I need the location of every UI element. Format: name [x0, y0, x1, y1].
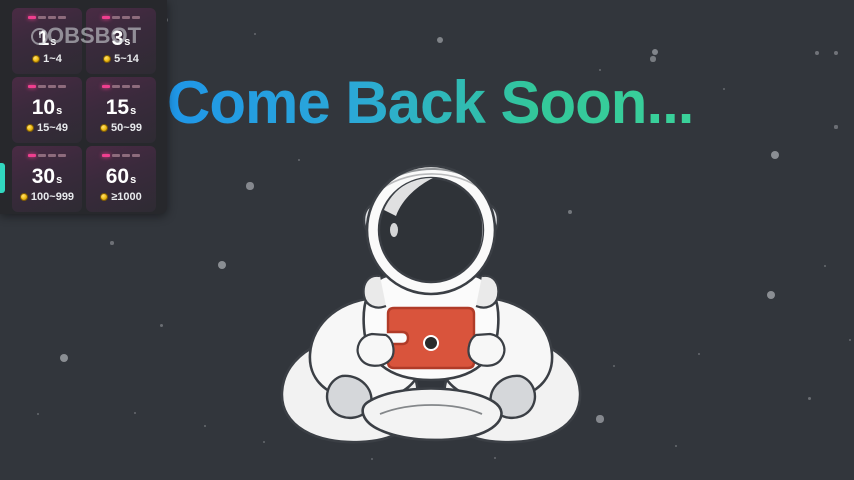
star-dot	[596, 415, 603, 422]
reward-tier-card-grid: 1s1~43s5~1410s15~4915s50~9930s100~99960s…	[12, 8, 156, 212]
star-dot	[160, 324, 163, 327]
tier-gauge-segment	[58, 16, 66, 19]
star-dot	[246, 182, 253, 189]
tier-duration-value: 3s	[86, 27, 156, 54]
tier-gauge-segment	[112, 16, 120, 19]
coin-icon	[26, 124, 34, 132]
tier-duration-unit: s	[130, 174, 136, 186]
star-dot	[824, 265, 827, 268]
tier-coin-range-label: 15~49	[37, 122, 68, 134]
tablet-camera-icon	[424, 336, 438, 350]
tier-gauge-segment	[58, 154, 66, 157]
star-dot	[650, 56, 655, 61]
tier-duration-value: 10s	[12, 96, 82, 123]
astronaut-left-hand	[358, 334, 394, 366]
star-dot	[134, 412, 136, 414]
tier-coin-range: 15~49	[12, 122, 82, 134]
reward-tier-card[interactable]: 1s1~4	[12, 8, 82, 74]
star-dot	[723, 88, 725, 90]
tier-duration-unit: s	[56, 174, 62, 186]
tier-gauge	[102, 154, 140, 157]
tier-coin-range: 1~4	[12, 53, 82, 65]
tier-gauge-segment	[112, 154, 120, 157]
astronaut-right-hand	[469, 334, 505, 366]
reward-tier-card[interactable]: 30s100~999	[12, 146, 82, 212]
star-dot	[110, 241, 114, 245]
tier-gauge-segment	[132, 85, 140, 88]
astronaut-illustration	[276, 158, 586, 448]
tier-gauge-segment	[28, 85, 36, 88]
tier-duration-value: 1s	[12, 27, 82, 54]
coin-icon	[20, 193, 28, 201]
tier-gauge-segment	[48, 85, 56, 88]
tier-duration-value: 60s	[86, 165, 156, 192]
tier-gauge-segment	[28, 16, 36, 19]
star-dot	[675, 445, 678, 448]
star-dot	[437, 37, 443, 43]
star-dot	[698, 353, 700, 355]
tier-gauge-segment	[132, 154, 140, 157]
page-title: Come Back Soon...	[167, 72, 693, 134]
tier-gauge-segment	[122, 16, 130, 19]
tier-gauge-segment	[38, 16, 46, 19]
star-dot	[771, 151, 779, 159]
tier-gauge	[102, 16, 140, 19]
coin-icon	[100, 124, 108, 132]
tier-gauge-segment	[48, 16, 56, 19]
tier-duration-value: 15s	[86, 96, 156, 123]
coin-icon	[100, 193, 108, 201]
tier-gauge	[28, 16, 66, 19]
tier-gauge-segment	[102, 154, 110, 157]
tier-gauge	[28, 154, 66, 157]
star-dot	[652, 49, 659, 56]
tier-duration-unit: s	[130, 105, 136, 117]
star-dot	[767, 291, 776, 300]
star-dot	[808, 397, 811, 400]
tier-duration-unit: s	[124, 36, 130, 48]
star-dot	[494, 457, 496, 459]
coin-icon	[103, 55, 111, 63]
tier-gauge-segment	[38, 154, 46, 157]
tier-gauge	[28, 85, 66, 88]
tier-coin-range: ≥1000	[86, 191, 156, 203]
tier-gauge-segment	[132, 16, 140, 19]
star-dot	[613, 365, 615, 367]
star-dot	[849, 339, 852, 342]
tier-duration-number: 30	[32, 165, 55, 188]
tier-gauge-segment	[122, 154, 130, 157]
tier-coin-range: 100~999	[12, 191, 82, 203]
tier-gauge-segment	[58, 85, 66, 88]
star-dot	[254, 33, 256, 35]
star-dot	[371, 458, 373, 460]
tier-duration-number: 15	[106, 96, 129, 119]
tier-gauge-segment	[102, 16, 110, 19]
tier-coin-range-label: 50~99	[111, 122, 142, 134]
tier-gauge-segment	[28, 154, 36, 157]
tier-duration-number: 60	[106, 165, 129, 188]
screen: Come Back Soon...	[0, 0, 854, 480]
tier-gauge-segment	[122, 85, 130, 88]
tier-coin-range-label: 100~999	[31, 191, 74, 203]
tier-duration-number: 3	[112, 27, 124, 50]
tier-duration-value: 30s	[12, 165, 82, 192]
tier-gauge	[102, 85, 140, 88]
tier-coin-range-label: 1~4	[43, 53, 62, 65]
tier-gauge-segment	[112, 85, 120, 88]
tier-duration-unit: s	[56, 105, 62, 117]
star-dot	[263, 441, 265, 443]
reward-tier-card[interactable]: 15s50~99	[86, 77, 156, 143]
tier-coin-range-label: 5~14	[114, 53, 139, 65]
star-dot	[204, 425, 207, 428]
tier-coin-range-label: ≥1000	[111, 191, 142, 203]
tier-gauge-segment	[48, 154, 56, 157]
coin-icon	[32, 55, 40, 63]
reward-tier-card[interactable]: 3s5~14	[86, 8, 156, 74]
reward-tier-card[interactable]: 60s≥1000	[86, 146, 156, 212]
teal-edge-accent	[0, 163, 5, 193]
tier-gauge-segment	[102, 85, 110, 88]
star-dot	[834, 51, 838, 55]
star-dot	[834, 125, 837, 128]
tier-duration-number: 1	[38, 27, 50, 50]
tier-gauge-segment	[38, 85, 46, 88]
tier-duration-number: 10	[32, 96, 55, 119]
star-dot	[218, 261, 227, 270]
star-dot	[37, 413, 39, 415]
star-dot	[60, 354, 68, 362]
tier-duration-unit: s	[50, 36, 56, 48]
tier-coin-range: 50~99	[86, 122, 156, 134]
reward-tier-overlay-panel: 1s1~43s5~1410s15~4915s50~9930s100~99960s…	[0, 0, 167, 214]
tier-coin-range: 5~14	[86, 53, 156, 65]
star-dot	[815, 51, 819, 55]
reward-tier-card[interactable]: 10s15~49	[12, 77, 82, 143]
